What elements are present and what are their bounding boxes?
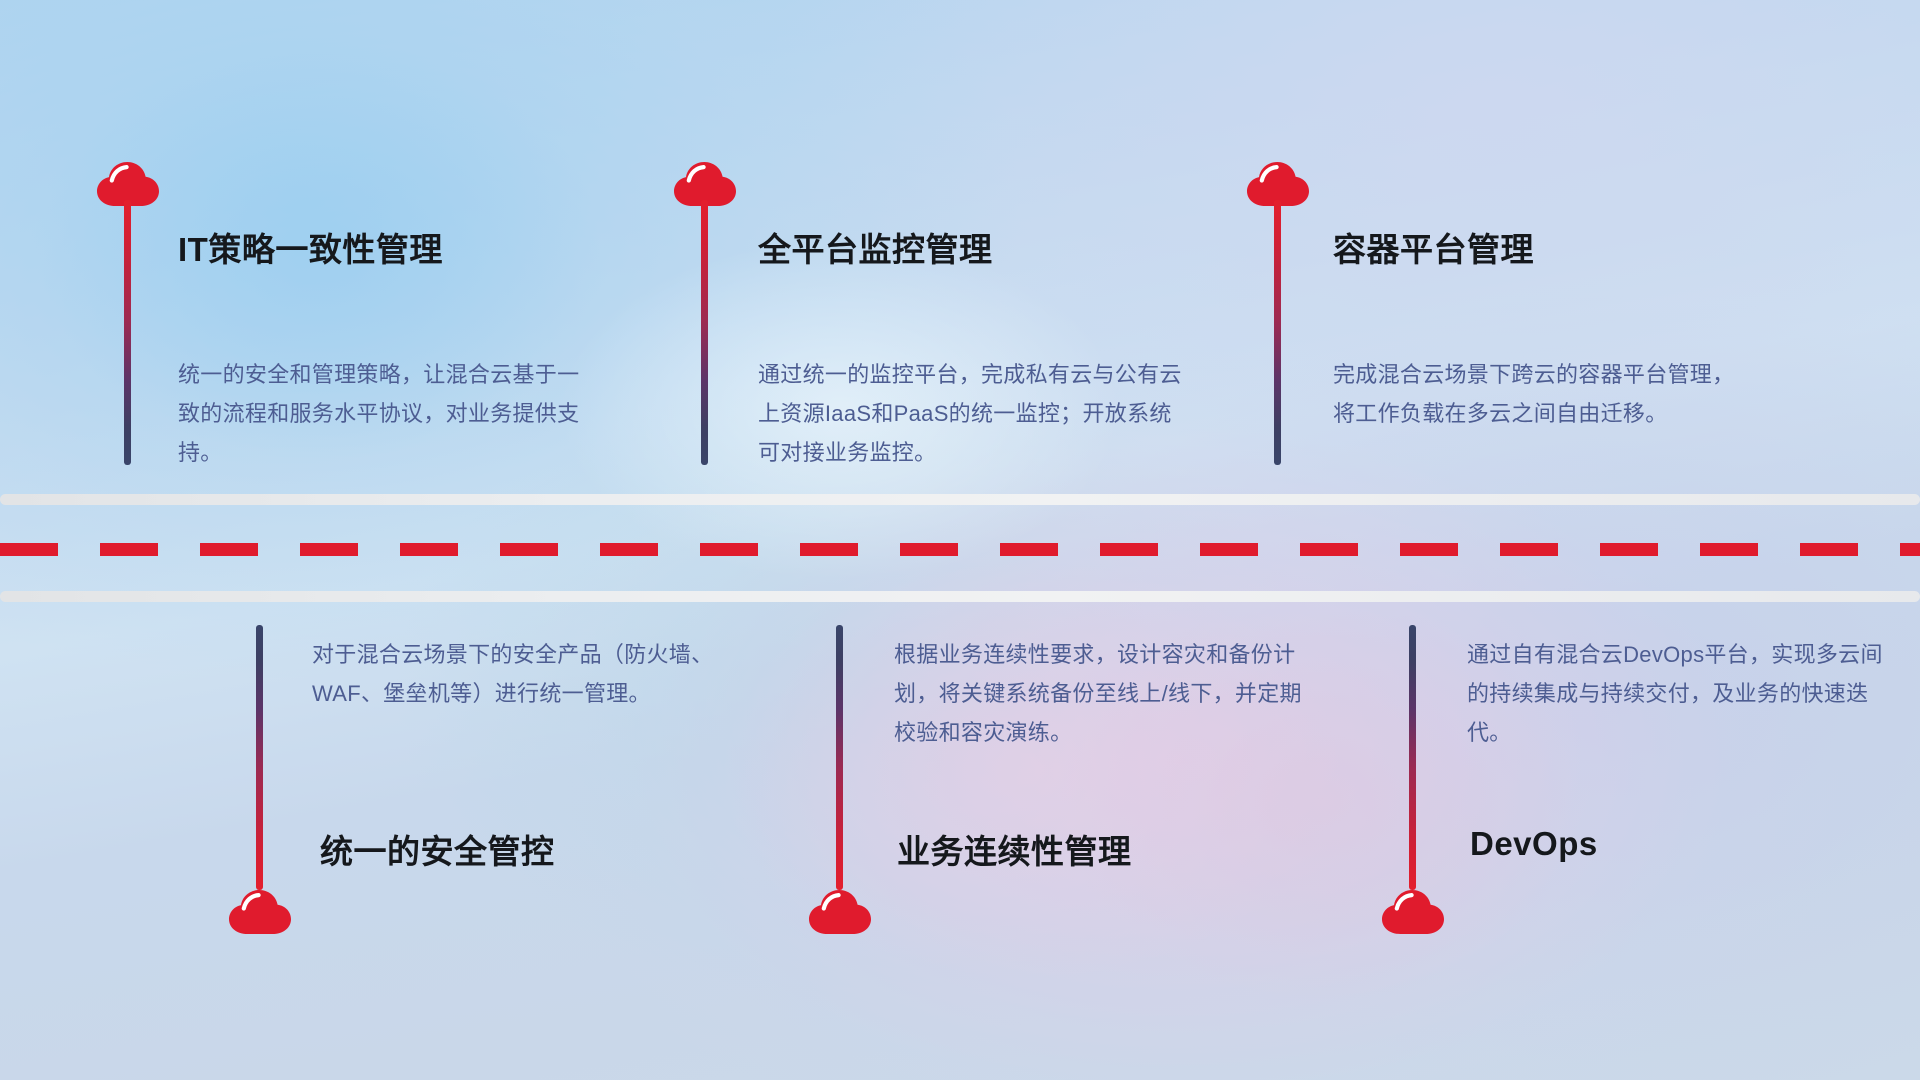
road-line-bottom [0, 591, 1920, 602]
pin-stem [701, 200, 708, 465]
bottom-heading-3: DevOps [1470, 825, 1598, 863]
bottom-heading-1: 统一的安全管控 [320, 825, 555, 873]
road-line-top [0, 494, 1920, 505]
bottom-body-3: 通过自有混合云DevOps平台，实现多云间的持续集成与持续交付，及业务的快速迭代… [1467, 635, 1887, 752]
bottom-heading-2: 业务连续性管理 [897, 825, 1132, 873]
cloud-icon [227, 888, 293, 936]
pin-stem [124, 200, 131, 465]
pin-stem [1274, 200, 1281, 465]
pin-stem [1409, 625, 1416, 890]
top-body-2: 通过统一的监控平台，完成私有云与公有云上资源IaaS和PaaS的统一监控；开放系… [758, 355, 1188, 472]
top-heading-2: 全平台监控管理 [758, 223, 993, 271]
top-heading-1: IT策略一致性管理 [178, 223, 443, 271]
cloud-icon [1380, 888, 1446, 936]
bottom-body-2: 根据业务连续性要求，设计容灾和备份计划，将关键系统备份至线上/线下，并定期校验和… [894, 635, 1319, 752]
road-dashed-center-line [0, 543, 1920, 556]
pin-stem [836, 625, 843, 890]
pin-stem [256, 625, 263, 890]
infographic-canvas: IT策略一致性管理 统一的安全和管理策略，让混合云基于一致的流程和服务水平协议，… [0, 0, 1920, 1080]
top-heading-3: 容器平台管理 [1333, 223, 1534, 271]
cloud-icon [807, 888, 873, 936]
top-body-1: 统一的安全和管理策略，让混合云基于一致的流程和服务水平协议，对业务提供支持。 [178, 355, 598, 472]
top-body-3: 完成混合云场景下跨云的容器平台管理，将工作负载在多云之间自由迁移。 [1333, 355, 1753, 433]
bottom-body-1: 对于混合云场景下的安全产品（防火墙、WAF、堡垒机等）进行统一管理。 [312, 635, 737, 713]
